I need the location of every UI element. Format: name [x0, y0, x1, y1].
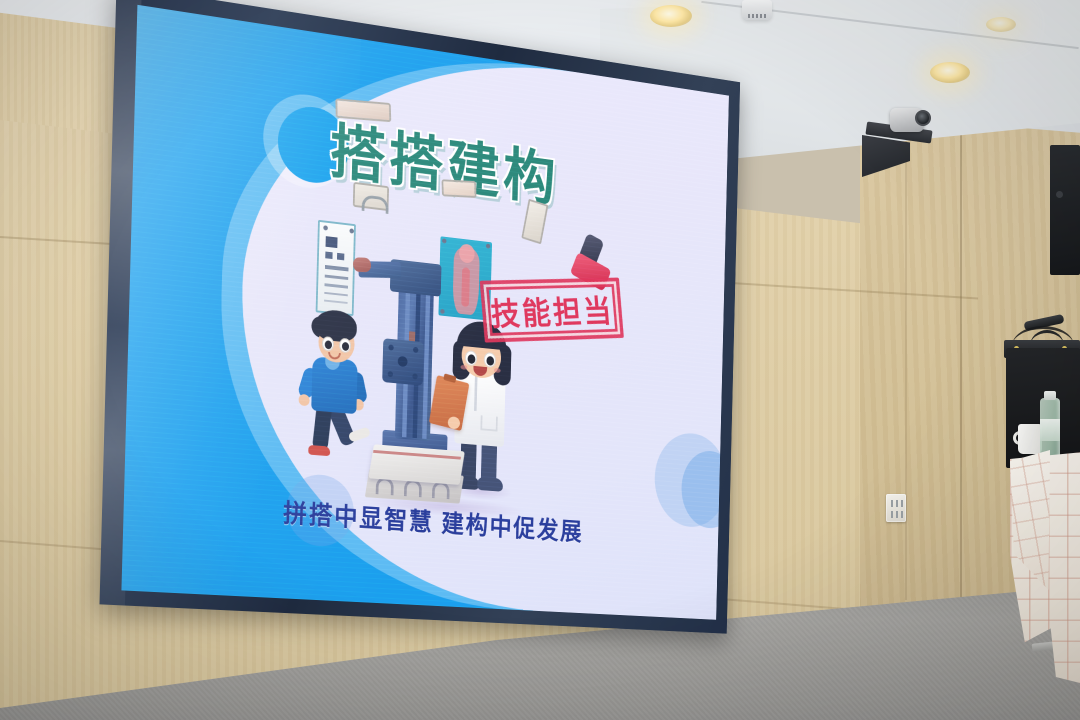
title-block-decor	[353, 182, 389, 211]
stadiometer-tip	[353, 257, 372, 272]
boy-hand	[299, 394, 310, 407]
doctor-pupil	[486, 356, 494, 366]
room-scene: 搭搭建构	[0, 0, 1080, 720]
ceiling-downlight	[650, 5, 692, 27]
bottle-cap	[1044, 391, 1056, 400]
health-checkup-illustration	[295, 214, 588, 505]
bottle-label	[1040, 419, 1060, 441]
boy-shoe	[308, 445, 330, 456]
doctor-hand	[448, 416, 460, 429]
screen-bezel: 搭搭建构	[99, 0, 740, 634]
wall-corner-edge	[960, 90, 962, 610]
doctor-cheek	[460, 365, 467, 370]
screen-display[interactable]: 搭搭建构	[121, 5, 728, 620]
skill-stamp: 技能担当	[480, 278, 624, 343]
ceiling-downlight	[930, 62, 970, 83]
projection-screen[interactable]: 搭搭建构	[99, 0, 740, 634]
wall-outlet[interactable]	[886, 494, 906, 522]
smoke-detector-icon	[742, 0, 772, 20]
ceiling-downlight	[986, 17, 1016, 32]
doctor-cheek	[494, 368, 501, 373]
doctor-pupil	[468, 354, 476, 364]
wall-panel-seam	[905, 120, 907, 600]
boy-pupil	[342, 342, 349, 351]
eye-chart-poster	[316, 220, 356, 316]
ceramic-mug	[1018, 424, 1042, 454]
stamp-text: 技能担当	[480, 278, 624, 343]
title-block-decor	[441, 179, 476, 198]
camera-lens-icon	[915, 110, 931, 126]
wall-speaker	[1050, 145, 1080, 275]
doctor-leg	[481, 440, 497, 486]
doctor-pocket	[480, 415, 497, 431]
boy-pupil	[325, 340, 332, 349]
